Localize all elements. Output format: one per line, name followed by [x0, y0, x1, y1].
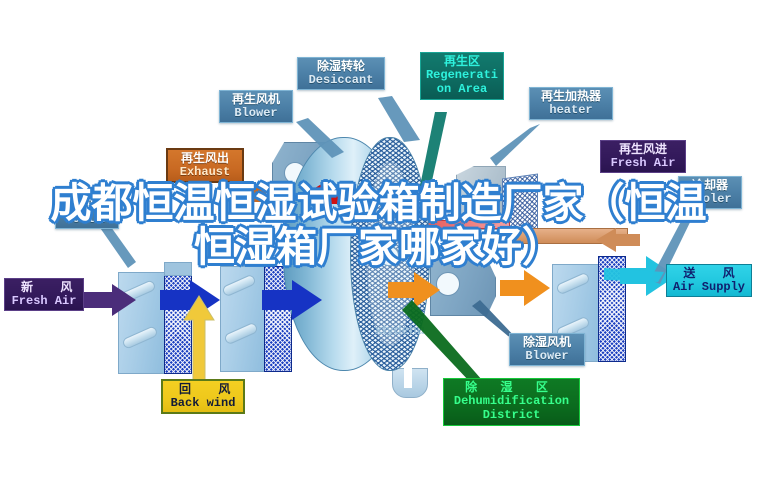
label-regen-heater-cn: 再生加热器	[534, 90, 608, 103]
label-regen-area-cn: 再生区	[425, 55, 499, 68]
label-desiccant-en: Desiccant	[302, 74, 380, 87]
label-fresh-air: 新 风 Fresh Air	[4, 278, 84, 311]
label-fresh-air-cn: 新 风	[9, 281, 79, 294]
label-fresh-air-en: Fresh Air	[9, 295, 79, 308]
label-cooler-right: 冷却器 Cooler	[678, 176, 742, 209]
label-regen-fresh-air-cn: 再生风进	[605, 143, 681, 156]
label-regen-heater: 再生加热器 heater	[529, 87, 613, 120]
label-cooler-left-cn: 冷却器	[60, 199, 114, 212]
label-dehum-district-en-1: Dehumidification	[448, 395, 575, 408]
label-regen-blower: 再生风机 Blower	[219, 90, 293, 123]
label-regen-area-en-1: Regenerati	[425, 69, 499, 82]
label-dehum-blower: 除湿风机 Blower	[509, 333, 585, 366]
label-cooler-left: 冷却器 Cooler	[55, 196, 119, 229]
label-desiccant: 除湿转轮 Desiccant	[297, 57, 385, 90]
label-regen-area: 再生区 Regenerati on Area	[420, 52, 504, 100]
label-regen-area-en-2: on Area	[425, 83, 499, 96]
label-desiccant-cn: 除湿转轮	[302, 60, 380, 73]
label-regen-blower-cn: 再生风机	[224, 93, 288, 106]
label-dehum-district-cn: 除 湿 区	[448, 381, 575, 394]
label-exhaust-cn: 再生风出	[172, 152, 238, 165]
label-dehum-blower-cn: 除湿风机	[514, 336, 580, 349]
label-cooler-right-cn: 冷却器	[683, 179, 737, 192]
label-back-wind-cn: 回 风	[167, 383, 239, 396]
label-air-supply-cn: 送 风	[671, 267, 747, 280]
label-cooler-right-en: Cooler	[683, 193, 737, 206]
label-dehum-district-en-2: District	[448, 409, 575, 422]
label-air-supply: 送 风 Air Supply	[666, 264, 752, 297]
label-cooler-left-en: Cooler	[60, 213, 114, 226]
label-back-wind: 回 风 Back wind	[161, 379, 245, 414]
diagram-canvas: xtydehu	[0, 0, 757, 488]
label-exhaust-en: Exhaust	[172, 166, 238, 179]
label-regen-blower-en: Blower	[224, 107, 288, 120]
label-exhaust: 再生风出 Exhaust	[166, 148, 244, 183]
label-dehum-district: 除 湿 区 Dehumidification District	[443, 378, 580, 426]
label-regen-fresh-air-en: Fresh Air	[605, 157, 681, 170]
label-dehum-blower-en: Blower	[514, 350, 580, 363]
label-air-supply-en: Air Supply	[671, 281, 747, 294]
label-back-wind-en: Back wind	[167, 397, 239, 410]
label-regen-heater-en: heater	[534, 104, 608, 117]
label-regen-fresh-air: 再生风进 Fresh Air	[600, 140, 686, 173]
